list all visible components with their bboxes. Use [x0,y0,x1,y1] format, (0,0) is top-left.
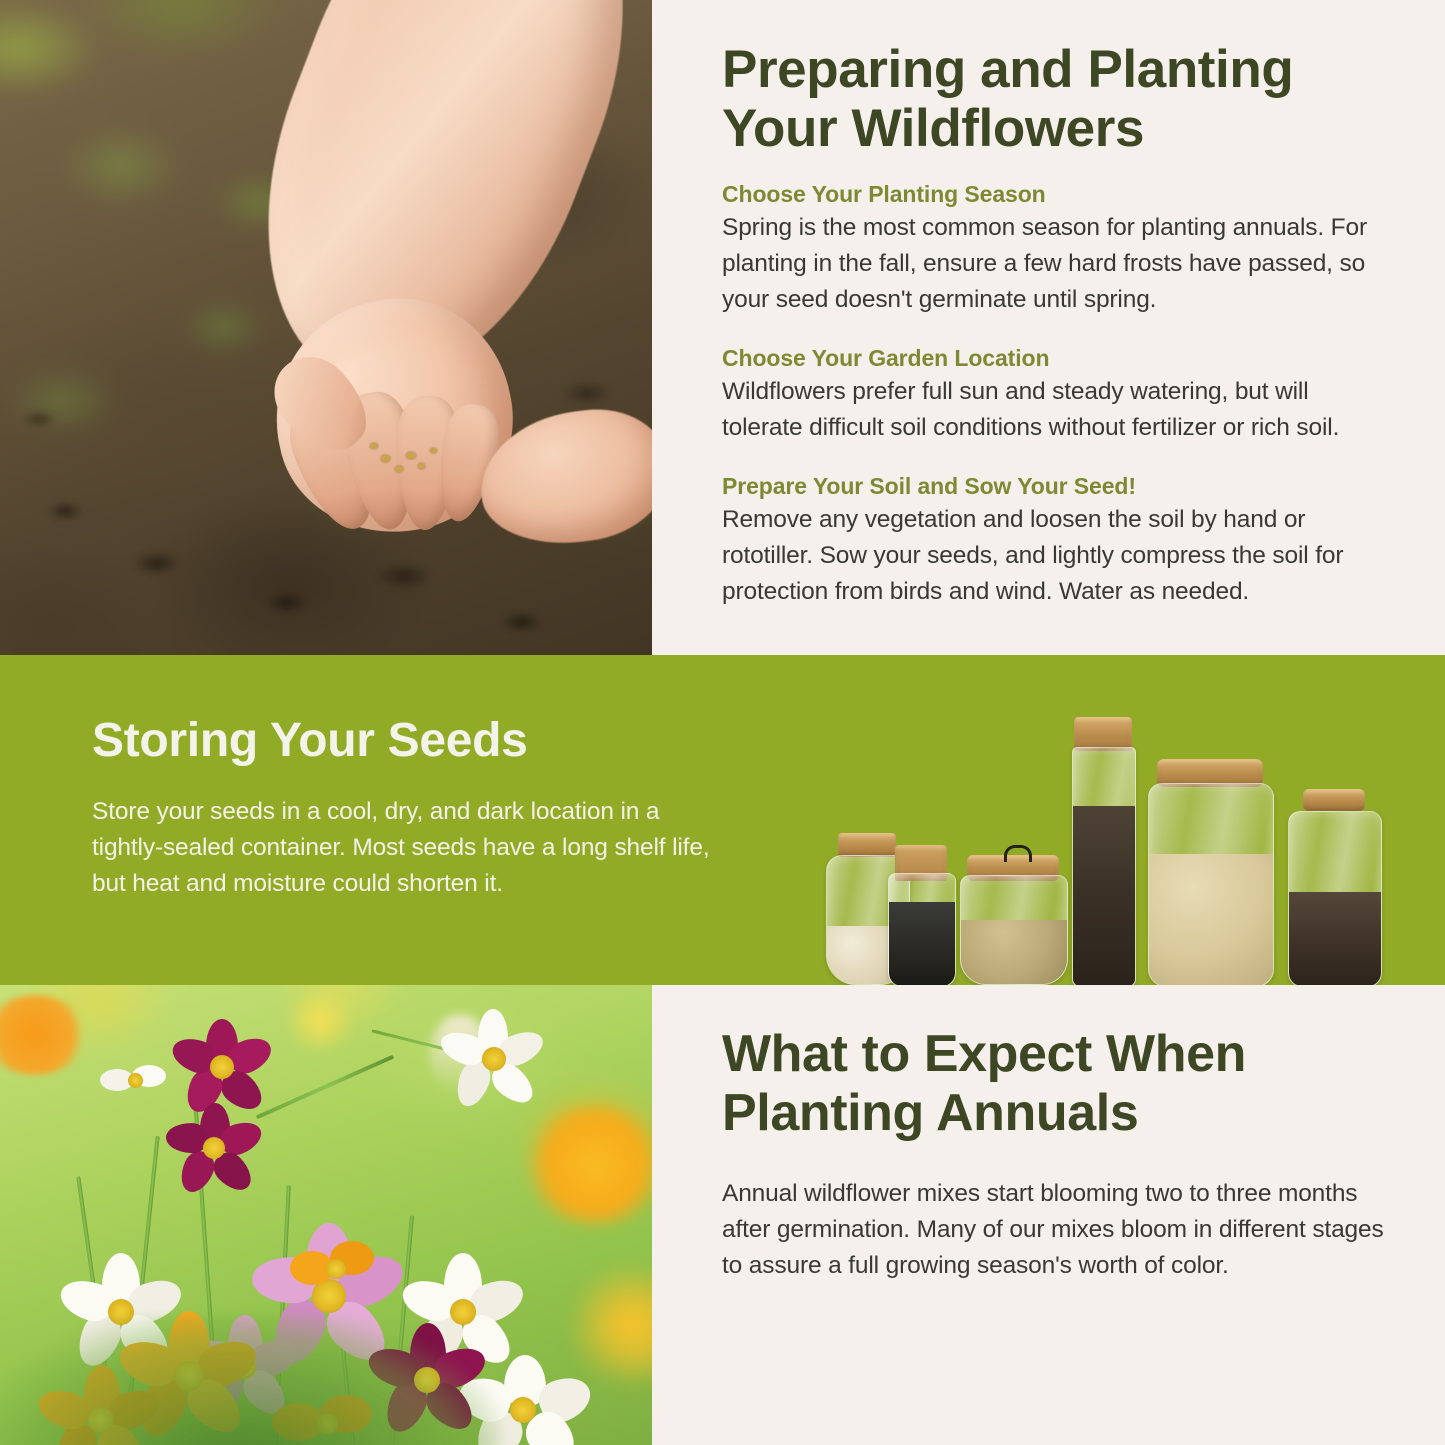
page-title: Preparing and Planting Your Wildflowers [722,40,1372,159]
subheading-prepare-soil: Prepare Your Soil and Sow Your Seed! [722,473,1390,500]
flower-center [128,1073,143,1088]
magenta-flower [168,1103,264,1195]
background-bloom [280,991,360,1051]
paragraph-planting-season: Spring is the most common season for pla… [722,210,1390,318]
flower-center [203,1137,225,1159]
planting-text-column: Preparing and Planting Your Wildflowers … [652,0,1445,655]
white-flower [100,1061,172,1105]
hand-sowing-seeds-photo [0,0,652,655]
seed-fill-sunflower [1289,892,1381,985]
seed-dot [370,443,378,449]
seed-fill-dark [1073,806,1135,985]
expect-title: What to Expect When Planting Annuals [722,1025,1362,1144]
cork-lid-icon [1074,717,1132,751]
paragraph-prepare-soil: Remove any vegetation and loosen the soi… [722,502,1390,610]
seed-dot [430,448,437,453]
jar-glass [1072,747,1136,985]
flower-center [510,1397,536,1423]
seed-jars-photo [820,665,1420,985]
storing-text-column: Storing Your Seeds Store your seeds in a… [92,713,742,902]
wildflower-meadow-photo [0,985,652,1445]
seed-fill-black [889,902,955,985]
jar-pumpkin-seeds [1148,759,1272,985]
section-preparing-and-planting: Preparing and Planting Your Wildflowers … [0,0,1445,655]
paragraph-garden-location: Wildflowers prefer full sun and steady w… [722,374,1390,446]
flower-center [210,1055,234,1079]
seed-fill-pumpkin [1149,854,1273,985]
white-flower [440,1009,546,1109]
seed-dot [406,452,416,459]
storing-title: Storing Your Seeds [92,713,742,768]
expect-text-column: What to Expect When Planting Annuals Ann… [652,985,1445,1445]
seed-dot [395,466,403,472]
subheading-garden-location: Choose Your Garden Location [722,345,1390,372]
magenta-flower [172,1019,272,1115]
jar-black-seed [888,845,954,985]
subheading-planting-season: Choose Your Planting Season [722,181,1390,208]
storing-paragraph: Store your seeds in a cool, dry, and dar… [92,794,712,902]
jar-wire-clasp-icon [1004,845,1032,862]
seed-dot [418,463,425,469]
infographic-page: Preparing and Planting Your Wildflowers … [0,0,1445,1445]
expect-paragraph: Annual wildflower mixes start blooming t… [722,1176,1390,1284]
flower-center [326,1259,346,1279]
flower-center [482,1047,506,1071]
seed-fill-tan [961,920,1067,984]
jar-fine-tan-seed [960,845,1066,985]
orange-flower [290,1235,386,1305]
jar-glass [888,873,956,985]
jar-tall-dark-seed [1072,717,1134,985]
jar-glass [1288,811,1382,985]
jar-glass [960,875,1068,985]
section-storing-your-seeds: Storing Your Seeds Store your seeds in a… [0,655,1445,985]
jar-glass [1148,783,1274,985]
seed-dot [381,455,390,462]
jar-sunflower-seeds [1288,789,1380,985]
foliage [0,1315,500,1445]
cork-lid-icon [1303,789,1365,811]
section-what-to-expect: What to Expect When Planting Annuals Ann… [0,985,1445,1445]
